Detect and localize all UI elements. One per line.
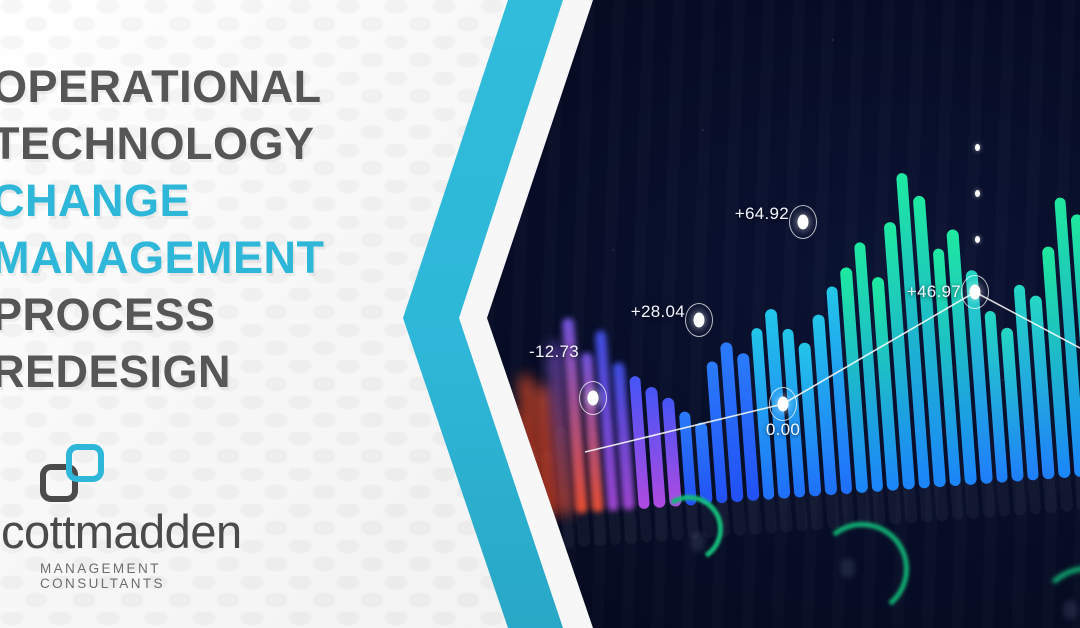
- kebab-dot-2: [975, 190, 980, 197]
- value-label: +46.97: [907, 282, 961, 302]
- value-label: -12.73: [529, 342, 579, 362]
- kebab-dot-1: [975, 144, 980, 151]
- headline-line-6: REDESIGN: [0, 343, 422, 400]
- banner: OPERATIONAL TECHNOLOGY CHANGE MANAGEMENT…: [0, 0, 1080, 628]
- headline-line-3: CHANGE: [0, 172, 422, 229]
- page-title: OPERATIONAL TECHNOLOGY CHANGE MANAGEMENT…: [0, 58, 422, 400]
- value-label: +28.04: [631, 302, 685, 322]
- headline-line-1: OPERATIONAL: [0, 58, 422, 115]
- logo-tagline: MANAGEMENT CONSULTANTS: [40, 561, 248, 591]
- value-marker-dot: [588, 391, 599, 406]
- value-marker-dot: [694, 313, 705, 328]
- value-marker[interactable]: [769, 387, 797, 421]
- headline-line-2: TECHNOLOGY: [0, 115, 422, 172]
- logo-wordmark: scottmadden: [0, 508, 248, 556]
- interlocking-squares-icon: [40, 444, 104, 502]
- gauge-blob-3: [1063, 600, 1077, 620]
- value-label: 0.00: [766, 420, 800, 440]
- headline-line-5: PROCESS: [0, 286, 422, 343]
- gauge-blob-1: [691, 532, 705, 552]
- gauge-blob-2: [841, 558, 855, 578]
- value-marker-dot: [778, 397, 789, 412]
- value-marker-dot: [798, 215, 809, 230]
- value-marker[interactable]: [789, 205, 817, 239]
- brand-logo: scottmadden MANAGEMENT CONSULTANTS: [0, 444, 248, 591]
- value-marker-dot: [970, 285, 981, 300]
- value-marker[interactable]: [685, 303, 713, 337]
- value-label: +64.92: [735, 204, 789, 224]
- more-options-icon[interactable]: [975, 144, 980, 282]
- value-marker[interactable]: [579, 381, 607, 415]
- kebab-dot-3: [975, 236, 980, 243]
- logo-square-cyan: [66, 444, 104, 482]
- headline-line-4: MANAGEMENT: [0, 229, 422, 286]
